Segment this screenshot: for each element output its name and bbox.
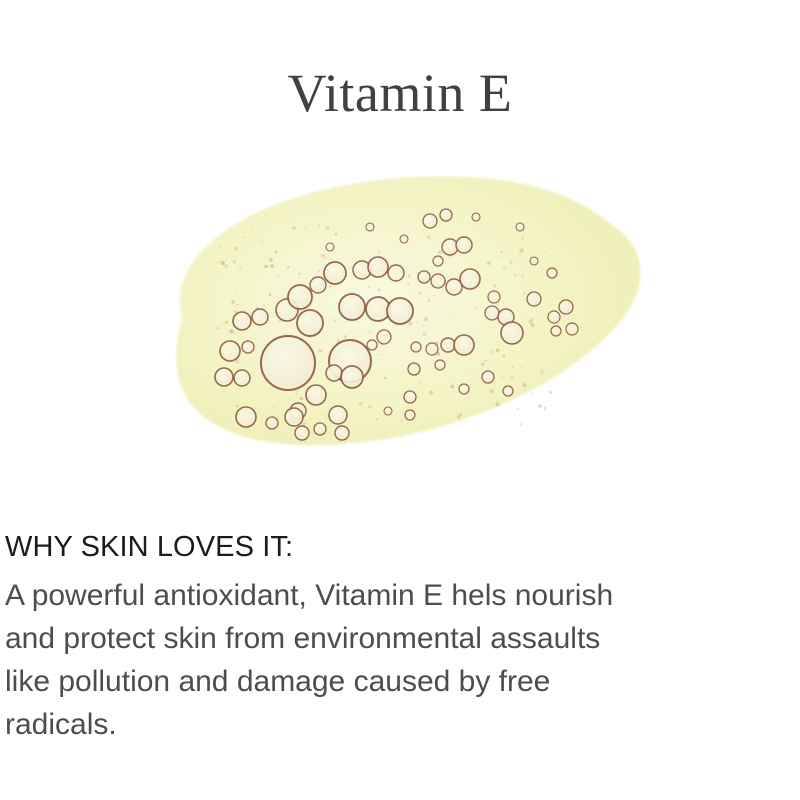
copy-body-line: A powerful antioxidant, Vitamin E hels n…	[5, 574, 765, 617]
page-title: Vitamin E	[0, 64, 800, 123]
vitamin-e-serum-swatch	[120, 165, 680, 495]
copy-body-line: like pollution and damage caused by free	[5, 660, 765, 703]
copy-body-line: and protect skin from environmental assa…	[5, 617, 765, 660]
ingredient-copy-block: WHY SKIN LOVES IT: A powerful antioxidan…	[5, 530, 795, 746]
copy-body-line: radicals.	[5, 703, 765, 746]
copy-body: A powerful antioxidant, Vitamin E hels n…	[5, 574, 765, 746]
serum-swatch-illustration	[120, 165, 680, 495]
copy-heading: WHY SKIN LOVES IT:	[5, 530, 795, 564]
product-ingredient-card: Vitamin E	[0, 0, 800, 800]
